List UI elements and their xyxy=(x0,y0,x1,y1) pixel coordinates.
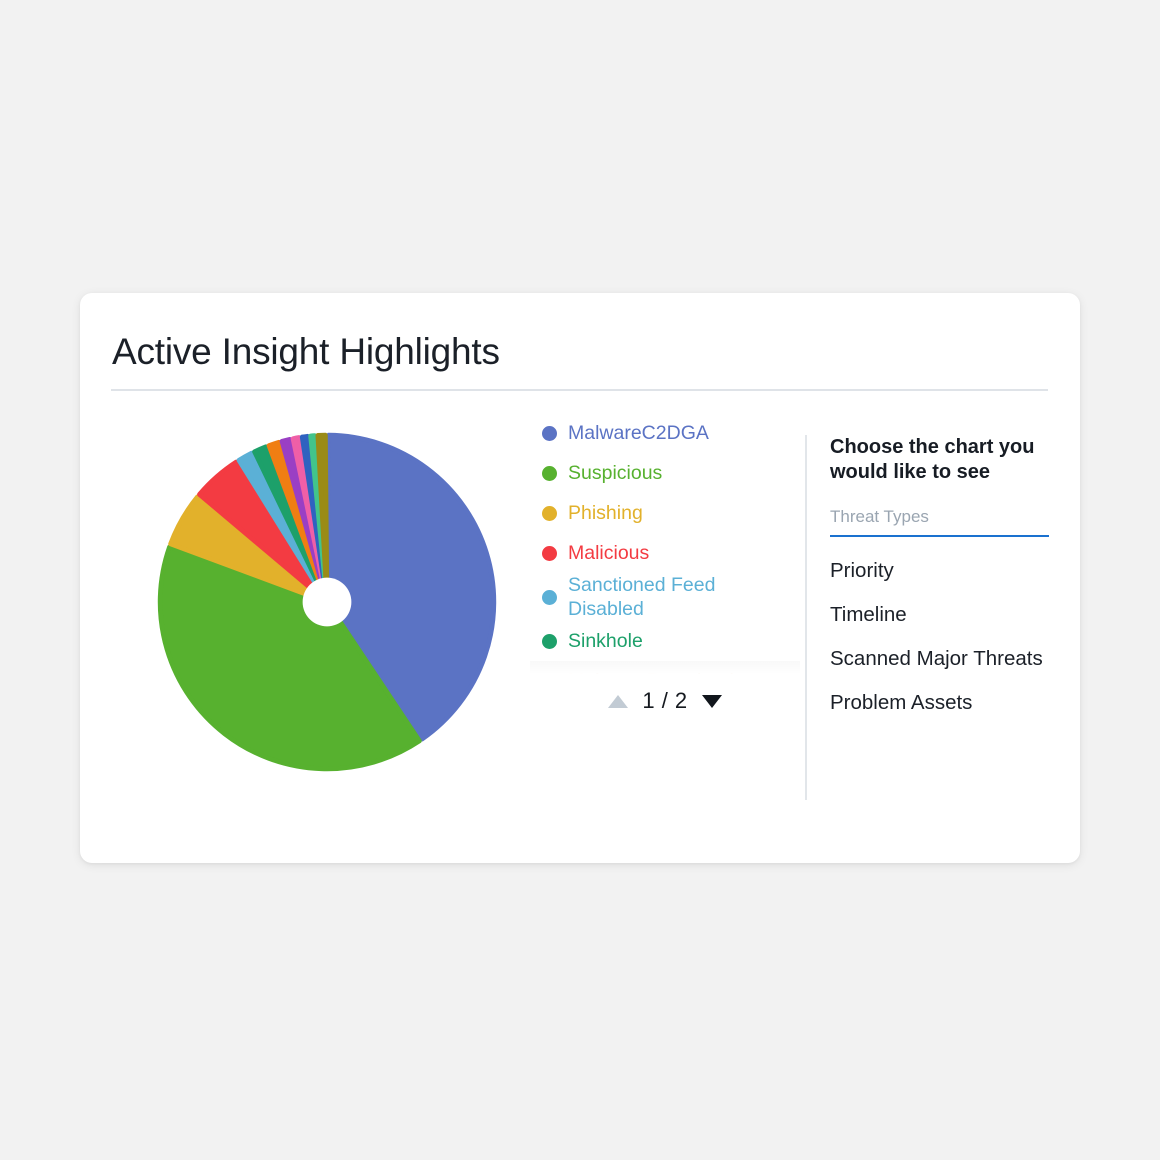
selected-chart-value[interactable]: Threat Types xyxy=(830,507,1049,537)
legend-item[interactable]: Phishing xyxy=(530,493,800,533)
active-insight-highlights-card: Active Insight Highlights MalwareC2DGASu… xyxy=(80,293,1080,863)
selector-option-list: PriorityTimelineScanned Major ThreatsPro… xyxy=(830,558,1060,716)
selector-option[interactable]: Problem Assets xyxy=(830,690,1060,716)
legend-item-label: Malware Download xyxy=(568,669,734,681)
legend-item[interactable]: Sanctioned Feed Disabled xyxy=(530,573,800,621)
legend-item[interactable]: Sinkhole xyxy=(530,621,800,661)
legend-color-dot-icon xyxy=(542,674,557,682)
legend-item-label: Sinkhole xyxy=(568,629,643,653)
legend-item[interactable]: Malware Download xyxy=(530,661,800,681)
chart-selector-panel: Choose the chart you would like to see T… xyxy=(830,435,1060,716)
chart-legend: MalwareC2DGASuspiciousPhishingMaliciousS… xyxy=(530,413,800,733)
page-indicator: 1 / 2 xyxy=(642,688,687,714)
legend-item-label: MalwareC2DGA xyxy=(568,421,709,445)
threat-types-donut-chart[interactable] xyxy=(147,422,507,782)
legend-item[interactable]: MalwareC2DGA xyxy=(530,413,800,453)
legend-color-dot-icon xyxy=(542,590,557,605)
legend-item-label: Suspicious xyxy=(568,461,662,485)
selector-option[interactable]: Timeline xyxy=(830,602,1060,628)
title-divider xyxy=(111,389,1048,391)
legend-item-label: Phishing xyxy=(568,501,643,525)
page-up-arrow-icon[interactable] xyxy=(608,695,628,708)
legend-color-dot-icon xyxy=(542,634,557,649)
legend-item-label: Malicious xyxy=(568,541,649,565)
page-title: Active Insight Highlights xyxy=(112,329,500,375)
legend-color-dot-icon xyxy=(542,426,557,441)
legend-item[interactable]: Suspicious xyxy=(530,453,800,493)
legend-color-dot-icon xyxy=(542,506,557,521)
legend-color-dot-icon xyxy=(542,546,557,561)
selector-option[interactable]: Scanned Major Threats xyxy=(830,646,1060,672)
panel-divider xyxy=(805,435,807,800)
legend-scroll-list[interactable]: MalwareC2DGASuspiciousPhishingMaliciousS… xyxy=(530,413,800,681)
selector-option[interactable]: Priority xyxy=(830,558,1060,584)
page-down-arrow-icon[interactable] xyxy=(702,695,722,708)
selector-heading: Choose the chart you would like to see xyxy=(830,435,1045,485)
donut-hole xyxy=(303,578,352,627)
legend-item-label: Sanctioned Feed Disabled xyxy=(568,573,715,621)
legend-pagination: 1 / 2 xyxy=(530,681,800,721)
legend-item[interactable]: Malicious xyxy=(530,533,800,573)
legend-color-dot-icon xyxy=(542,466,557,481)
chart-area xyxy=(80,403,535,803)
